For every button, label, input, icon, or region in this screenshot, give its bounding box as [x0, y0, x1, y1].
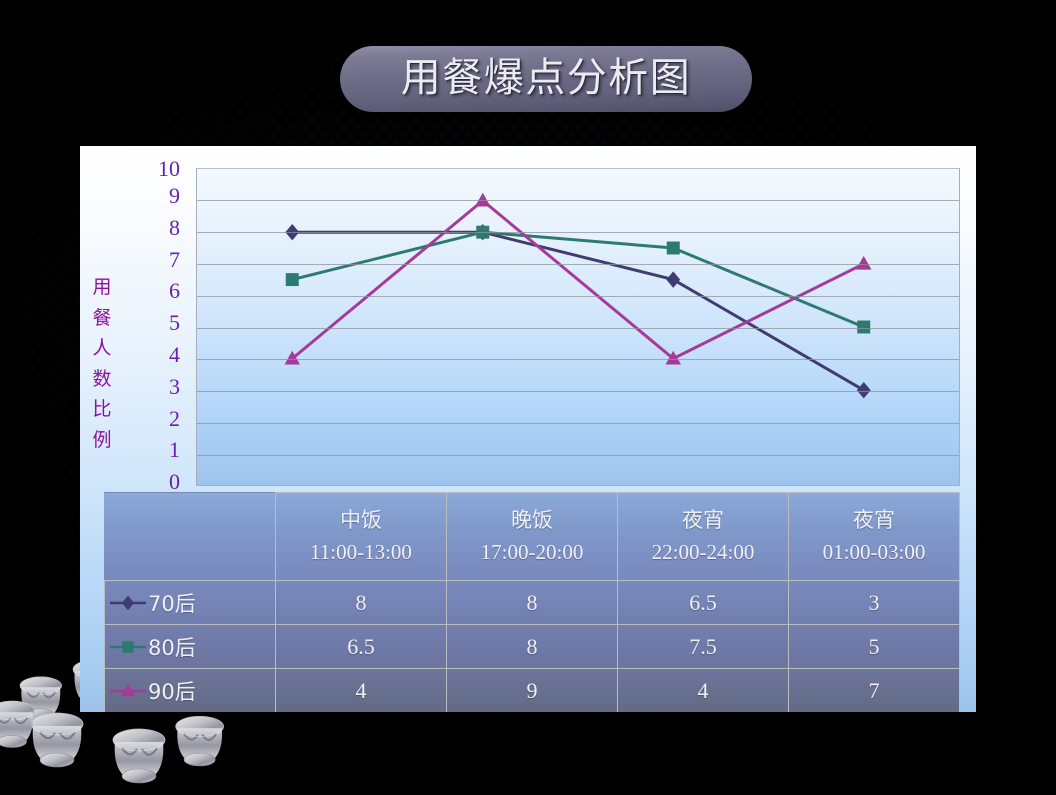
legend-square-icon — [109, 638, 147, 656]
slide-canvas: 用餐爆点分析图 — [0, 0, 1056, 795]
chart-gridline — [197, 264, 959, 265]
y-axis-tick: 9 — [126, 180, 180, 212]
chart-marker-70后 — [667, 272, 680, 287]
table-cell: 4 — [276, 669, 447, 713]
column-header-time: 17:00-20:00 — [447, 538, 617, 568]
table-cell: 6.5 — [276, 625, 447, 669]
table-cell: 5 — [789, 625, 960, 669]
legend-label: 80后 — [148, 632, 196, 662]
table-cell: 4 — [618, 669, 789, 713]
chart-data-table: 中饭 11:00-13:00 晚饭 17:00-20:00 夜宵 22:00-2… — [104, 492, 960, 712]
table-cell: 8 — [447, 625, 618, 669]
table-row: 90后4947 — [105, 669, 960, 713]
chart-line-70后 — [292, 232, 864, 390]
column-header-meal: 夜宵 — [789, 506, 959, 536]
y-axis-tick: 5 — [126, 307, 180, 339]
table-cell: 8 — [447, 581, 618, 625]
table-cell: 7.5 — [618, 625, 789, 669]
column-header-meal: 夜宵 — [618, 506, 788, 536]
y-axis-title-char: 人 — [84, 333, 120, 364]
chart-gridline — [197, 359, 959, 360]
chart-gridline — [197, 200, 959, 201]
y-axis-title-char: 餐 — [84, 303, 120, 334]
chart-marker-80后 — [667, 242, 679, 254]
chart-gridline — [197, 328, 959, 329]
table-corner-cell — [105, 493, 276, 581]
column-header-meal: 中饭 — [276, 506, 446, 536]
chart-marker-80后 — [286, 274, 298, 286]
table-cell: 8 — [276, 581, 447, 625]
chart-gridline — [197, 455, 959, 456]
table-cell: 7 — [789, 669, 960, 713]
y-axis-title-char: 比 — [84, 394, 120, 425]
column-header-time: 01:00-03:00 — [789, 538, 959, 568]
column-header-time: 22:00-24:00 — [618, 538, 788, 568]
chart-gridline — [197, 391, 959, 392]
chart-line-90后 — [292, 201, 864, 359]
slide-title-pill: 用餐爆点分析图 — [340, 46, 752, 112]
table-header-row: 中饭 11:00-13:00 晚饭 17:00-20:00 夜宵 22:00-2… — [105, 493, 960, 581]
legend-label: 90后 — [148, 676, 196, 706]
chart-plot-area — [196, 168, 960, 486]
legend-cell-80后: 80后 — [105, 625, 276, 669]
legend-diamond-icon — [109, 594, 147, 612]
chart-gridline — [197, 232, 959, 233]
table-body: 70后886.5380后6.587.5590后4947 — [105, 581, 960, 713]
y-axis-tick: 3 — [126, 371, 180, 403]
chart-gridline — [197, 296, 959, 297]
table-column-header: 夜宵 22:00-24:00 — [618, 493, 789, 581]
y-axis-tick: 7 — [126, 244, 180, 276]
chart-panel: 用 餐 人 数 比 例 10 9 8 7 6 5 4 3 2 1 0 — [80, 146, 976, 712]
y-axis-tick: 8 — [126, 212, 180, 244]
table-row: 80后6.587.55 — [105, 625, 960, 669]
y-axis-title-char: 用 — [84, 272, 120, 303]
table-cell: 6.5 — [618, 581, 789, 625]
legend-cell-90后: 90后 — [105, 669, 276, 713]
column-header-meal: 晚饭 — [447, 506, 617, 536]
table-cell: 9 — [447, 669, 618, 713]
table-row: 70后886.53 — [105, 581, 960, 625]
table-cell: 3 — [789, 581, 960, 625]
legend-cell-70后: 70后 — [105, 581, 276, 625]
y-axis-tick: 4 — [126, 339, 180, 371]
y-axis-tick: 10 — [126, 158, 180, 180]
chart-gridline — [197, 423, 959, 424]
y-axis-tick-labels: 10 9 8 7 6 5 4 3 2 1 0 — [126, 158, 188, 498]
y-axis-tick: 6 — [126, 275, 180, 307]
y-axis-tick: 2 — [126, 403, 180, 435]
table-column-header: 中饭 11:00-13:00 — [276, 493, 447, 581]
legend-label: 70后 — [148, 588, 196, 618]
column-header-time: 11:00-13:00 — [276, 538, 446, 568]
y-axis-title-char: 数 — [84, 364, 120, 395]
y-axis-title-char: 例 — [84, 425, 120, 456]
table-column-header: 夜宵 01:00-03:00 — [789, 493, 960, 581]
y-axis-title: 用 餐 人 数 比 例 — [84, 272, 120, 455]
table-column-header: 晚饭 17:00-20:00 — [447, 493, 618, 581]
legend-triangle-icon — [109, 682, 147, 700]
page-title: 用餐爆点分析图 — [401, 58, 692, 101]
y-axis-tick: 1 — [126, 434, 180, 466]
